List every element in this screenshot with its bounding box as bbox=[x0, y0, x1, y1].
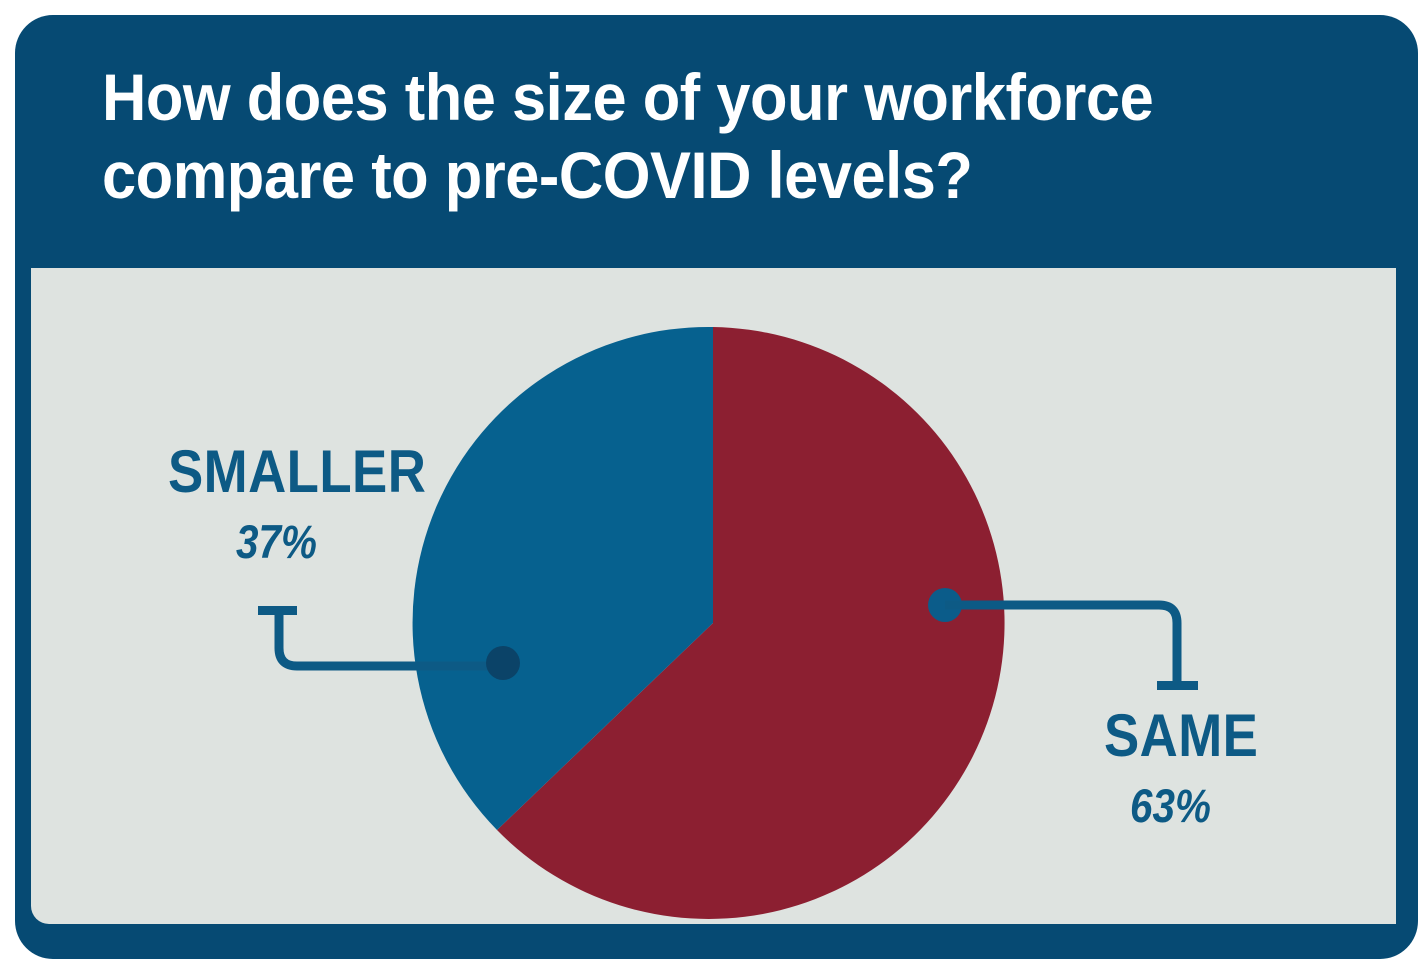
callout-same-category: SAME bbox=[1104, 706, 1258, 766]
leader-cap-same bbox=[1157, 681, 1198, 690]
chart-panel: SMALLER 37% SAME 63% bbox=[31, 268, 1396, 924]
callout-smaller-category: SMALLER bbox=[168, 442, 426, 502]
infographic-canvas: How does the size of your workforce comp… bbox=[0, 0, 1428, 974]
title-band: How does the size of your workforce comp… bbox=[15, 15, 1418, 268]
callout-smaller: SMALLER 37% bbox=[168, 442, 461, 565]
callout-smaller-percent: 37% bbox=[236, 518, 430, 565]
callout-same-percent: 63% bbox=[1130, 782, 1258, 829]
infographic-card: How does the size of your workforce comp… bbox=[15, 15, 1418, 959]
callout-same: SAME 63% bbox=[1094, 706, 1279, 829]
page-title: How does the size of your workforce comp… bbox=[102, 59, 1246, 215]
leader-dot-smaller bbox=[486, 646, 520, 680]
